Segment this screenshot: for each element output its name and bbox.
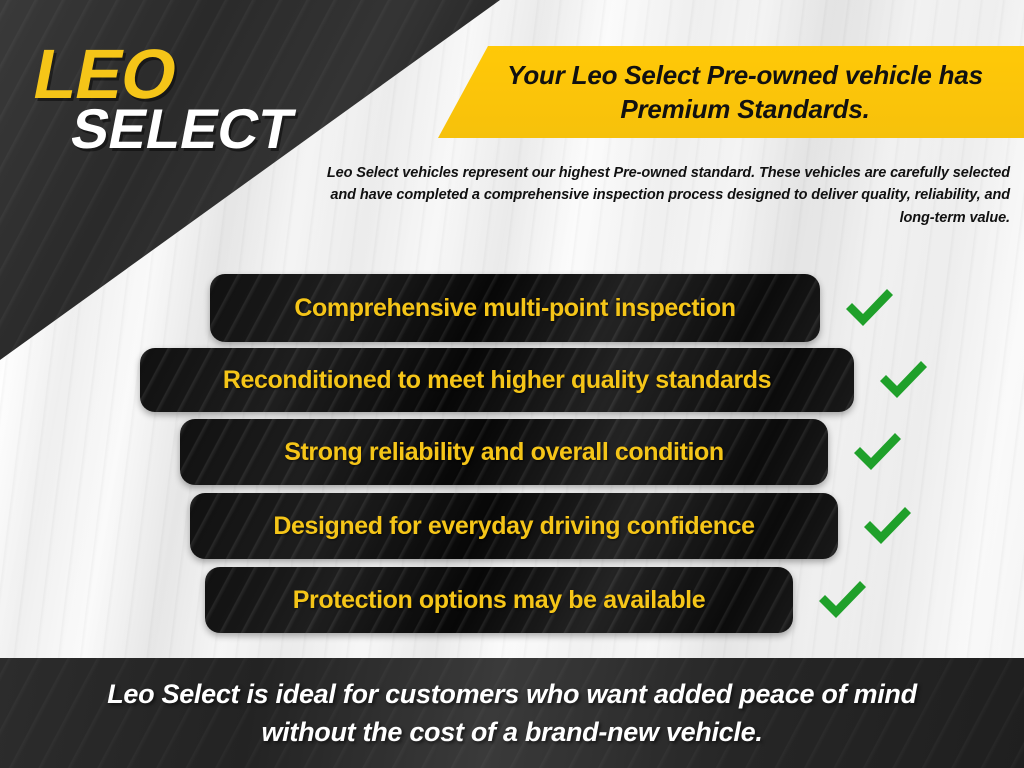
check-icon: [850, 429, 904, 475]
feature-row: Designed for everyday driving confidence: [190, 493, 950, 559]
feature-label: Protection options may be available: [293, 586, 706, 615]
feature-label: Reconditioned to meet higher quality sta…: [223, 366, 771, 395]
feature-pill: Reconditioned to meet higher quality sta…: [140, 348, 854, 412]
headline-text: Your Leo Select Pre-owned vehicle has Pr…: [430, 58, 1024, 127]
leo-select-poster: LEO SELECT Your Leo Select Pre-owned veh…: [0, 0, 1024, 768]
check-icon: [876, 357, 930, 403]
feature-row: Protection options may be available: [205, 567, 925, 633]
footer-band: Leo Select is ideal for customers who wa…: [0, 658, 1024, 768]
intro-paragraph: Leo Select vehicles represent our highes…: [300, 162, 1010, 231]
feature-pill: Comprehensive multi-point inspection: [210, 274, 820, 342]
feature-row: Comprehensive multi-point inspection: [210, 274, 910, 342]
headline-banner: Your Leo Select Pre-owned vehicle has Pr…: [430, 46, 1024, 138]
feature-row: Strong reliability and overall condition: [180, 419, 940, 485]
feature-pill: Designed for everyday driving confidence: [190, 493, 838, 559]
leo-select-logo: LEO SELECT: [19, 42, 341, 156]
feature-label: Strong reliability and overall condition: [284, 438, 724, 467]
check-icon: [842, 285, 896, 331]
check-icon: [815, 577, 869, 623]
feature-label: Designed for everyday driving confidence: [273, 512, 754, 541]
footer-text: Leo Select is ideal for customers who wa…: [0, 675, 1024, 752]
feature-pill: Strong reliability and overall condition: [180, 419, 828, 485]
feature-row: Reconditioned to meet higher quality sta…: [140, 348, 930, 412]
feature-label: Comprehensive multi-point inspection: [294, 294, 735, 323]
check-icon: [860, 503, 914, 549]
feature-pill: Protection options may be available: [205, 567, 793, 633]
logo-word-select: SELECT: [67, 102, 329, 155]
